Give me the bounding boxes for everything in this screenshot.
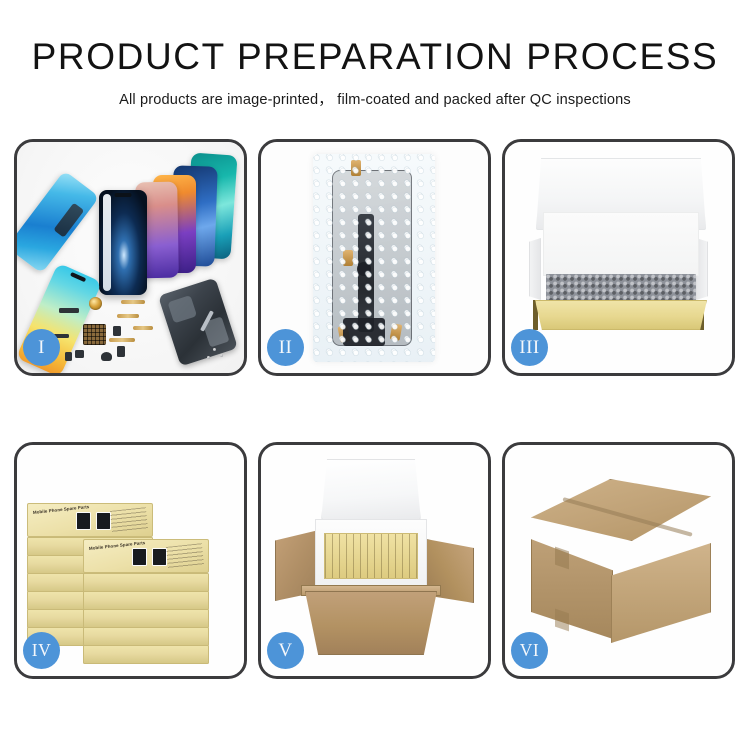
- carton-body-icon: [305, 591, 437, 655]
- kraft-box-front-icon: [535, 300, 707, 330]
- white-foam-sheet-icon: [543, 212, 699, 276]
- screw-icon: [207, 356, 210, 359]
- flex-cable-icon: [109, 338, 135, 342]
- phone-back-housing-icon: [158, 278, 238, 367]
- carton-left-face-icon: [531, 535, 613, 639]
- process-steps-grid: I II: [14, 139, 736, 691]
- step-panel-2[interactable]: II: [258, 139, 491, 376]
- bubble-texture-icon: [313, 154, 435, 362]
- carton-tape-icon: [555, 609, 569, 632]
- step-panel-4[interactable]: Mobile Phone Spare Parts Mobile Phone Sp…: [14, 442, 247, 679]
- box-window-icon: [132, 548, 147, 566]
- box-window-icon: [152, 548, 167, 566]
- step-panel-6[interactable]: VI: [502, 442, 735, 679]
- box-side-flap-icon: [529, 238, 541, 300]
- small-part-icon: [117, 346, 125, 357]
- badge-step-1: I: [23, 329, 60, 366]
- step-panel-3[interactable]: III: [502, 139, 735, 376]
- small-part-icon: [65, 352, 72, 361]
- box-window-icon: [76, 512, 91, 530]
- step-panel-5[interactable]: V: [258, 442, 491, 679]
- phone-front-glass-icon: [99, 190, 147, 295]
- page-subtitle: All products are image-printed， film-coa…: [0, 88, 750, 109]
- carton-right-face-icon: [611, 541, 711, 643]
- phone-notch-icon: [115, 193, 132, 197]
- styrofoam-lid-icon: [321, 459, 421, 521]
- top-box-back: Mobile Phone Spare Parts: [27, 503, 153, 537]
- chip-grid-icon: [83, 324, 106, 345]
- screw-icon: [213, 348, 216, 351]
- box-spec-lines-icon: [110, 507, 148, 533]
- box-window-icon: [96, 512, 111, 530]
- speaker-part-icon: [101, 352, 112, 361]
- screw-icon: [220, 354, 223, 357]
- phone-blue-assembly-icon: [17, 170, 99, 273]
- small-part-icon: [59, 308, 79, 313]
- badge-step-4: IV: [23, 632, 60, 669]
- top-box-front: Mobile Phone Spare Parts: [83, 539, 209, 573]
- badge-step-2: II: [267, 329, 304, 366]
- phone-notch-icon: [70, 272, 86, 282]
- page-title: PRODUCT PREPARATION PROCESS: [0, 38, 750, 77]
- step-panel-1[interactable]: I: [14, 139, 247, 376]
- badge-step-3: III: [511, 329, 548, 366]
- grey-foam-padding-icon: [546, 274, 696, 302]
- small-part-icon: [113, 326, 121, 336]
- flex-cable-icon: [117, 314, 139, 318]
- kraft-boxes-bundle-icon: [324, 533, 418, 579]
- flex-cable-icon: [121, 300, 145, 304]
- header: PRODUCT PREPARATION PROCESS All products…: [0, 0, 750, 109]
- small-part-icon: [75, 350, 84, 358]
- flex-cable-icon: [133, 326, 153, 330]
- badge-step-6: VI: [511, 632, 548, 669]
- vibration-motor-icon: [89, 297, 102, 310]
- badge-step-5: V: [267, 632, 304, 669]
- bubble-wrap-bag-icon: [313, 154, 435, 362]
- product-preparation-infographic: PRODUCT PREPARATION PROCESS All products…: [0, 0, 750, 750]
- box-spec-lines-icon: [166, 543, 204, 569]
